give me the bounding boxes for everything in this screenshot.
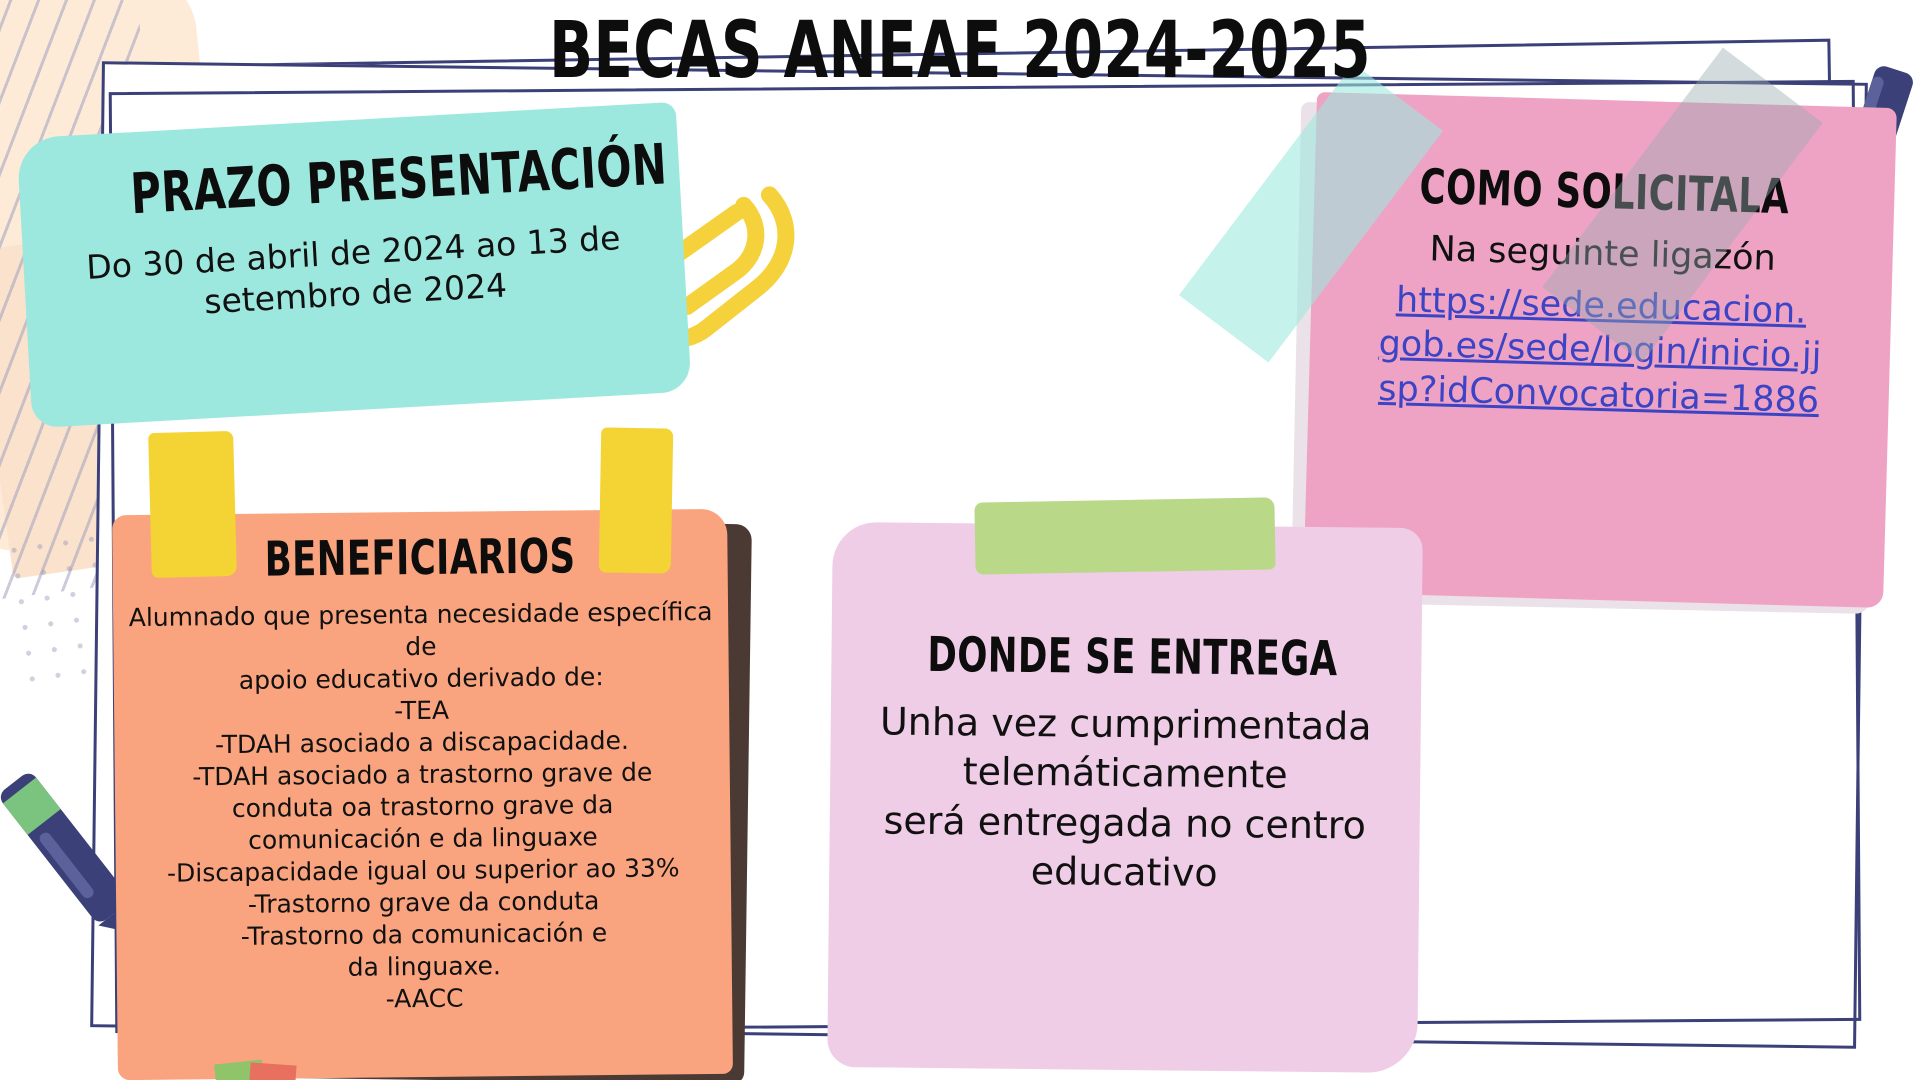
card-prazo-heading: PRAZO PRESENTACIÓN <box>129 142 570 223</box>
card-prazo-presentacion: PRAZO PRESENTACIÓN Do 30 de abril de 202… <box>16 102 691 428</box>
beneficiarios-list: -TEA -TDAH asociado a discapacidade. -TD… <box>128 692 718 1018</box>
card-beneficiarios-heading: BENEFICIARIOS <box>203 532 638 585</box>
card-donde-se-entrega: DONDE SE ENTREGA Unha vez cumprimentada … <box>827 522 1423 1073</box>
tape-icon-yellow-right <box>599 427 674 573</box>
tape-icon-green <box>974 497 1275 574</box>
scrap-red <box>249 1062 296 1080</box>
card-donde-se-entrega-line3: será entregada no centro <box>855 796 1393 851</box>
card-donde-se-entrega-heading: DONDE SE ENTREGA <box>927 631 1326 684</box>
page-title: BECAS ANEAE 2024-2025 <box>250 12 1671 92</box>
card-donde-se-entrega-line2: telemáticamente <box>856 747 1394 802</box>
list-item: -Discapacidade igual ou superior ao 33% <box>130 852 717 890</box>
card-beneficiarios: BENEFICIARIOS Alumnado que presenta nece… <box>112 509 733 1080</box>
list-item: -AACC <box>131 980 718 1018</box>
tape-icon-yellow-left <box>148 431 237 578</box>
poster-canvas: BECAS ANEAE 2024-2025 <box>0 0 1920 1080</box>
card-beneficiarios-lead-line1: Alumnado que presenta necesidade específ… <box>127 596 715 666</box>
list-item: -TDAH asociado a trastorno grave de <box>129 756 716 794</box>
card-donde-se-entrega-line1: Unha vez cumprimentada <box>857 697 1395 752</box>
card-donde-se-entrega-line4: educativo <box>855 845 1393 900</box>
